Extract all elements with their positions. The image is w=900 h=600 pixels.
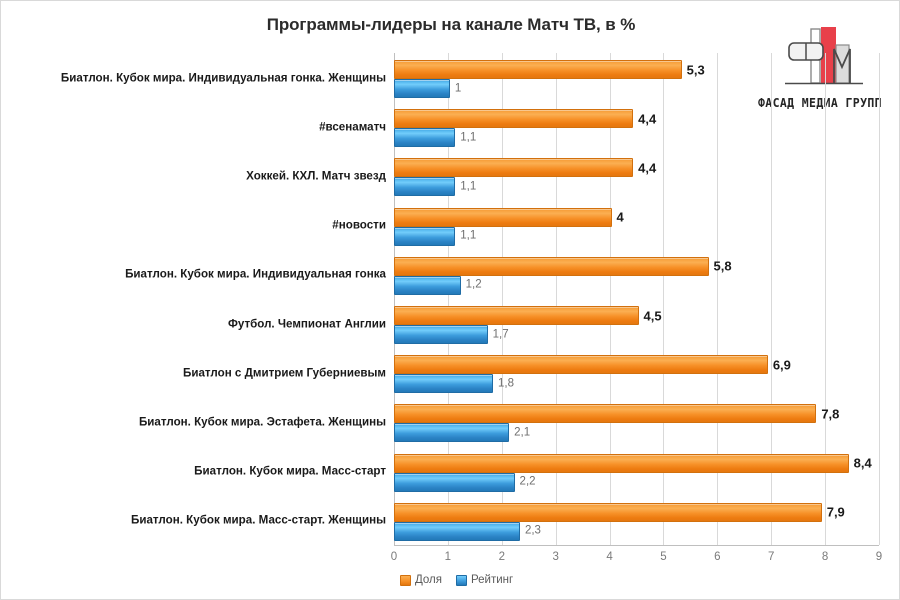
- chart-page: Программы-лидеры на канале Матч ТВ, в % …: [0, 0, 900, 600]
- x-axis-line: [394, 545, 879, 546]
- bar-value-label: 1: [455, 83, 461, 95]
- bar-share: 4,4: [394, 109, 633, 128]
- legend-label: Рейтинг: [471, 574, 513, 586]
- bar-value-label: 4,5: [644, 309, 662, 322]
- bar-value-label: 2,3: [525, 526, 541, 538]
- x-tick-label: 7: [756, 551, 786, 563]
- bar-value-label: 5,3: [687, 63, 705, 76]
- page-title: Программы-лидеры на канале Матч ТВ, в %: [151, 15, 751, 35]
- chart-legend: ДоляРейтинг: [400, 574, 513, 586]
- bar-value-label: 4,4: [638, 112, 656, 125]
- bar-share: 7,9: [394, 503, 822, 522]
- category-label: Биатлон. Кубок мира. Индивидуальная гонк…: [6, 71, 386, 84]
- bar-value-label: 1,1: [460, 181, 476, 193]
- legend-item[interactable]: Доля: [400, 574, 442, 586]
- bar-share: 6,9: [394, 355, 768, 374]
- legend-swatch-icon: [400, 575, 411, 586]
- x-tick-label: 8: [810, 551, 840, 563]
- bar-share: 5,8: [394, 257, 709, 276]
- bar-value-label: 2,1: [514, 427, 530, 439]
- bar-value-label: 4,4: [638, 161, 656, 174]
- bar-rating: 2,1: [394, 423, 509, 442]
- x-tick-label: 5: [648, 551, 678, 563]
- category-label: #новости: [6, 219, 386, 232]
- bar-value-label: 1,2: [466, 280, 482, 292]
- bar-value-label: 4: [617, 211, 624, 224]
- bar-rating: 2,2: [394, 473, 515, 492]
- category-label: Биатлон. Кубок мира. Индивидуальная гонк…: [6, 268, 386, 281]
- bar-value-label: 7,8: [821, 407, 839, 420]
- bar-value-label: 8,4: [854, 457, 872, 470]
- bar-value-label: 5,8: [714, 260, 732, 273]
- bar-value-label: 1,7: [493, 329, 509, 341]
- category-label: #всенаматч: [6, 120, 386, 133]
- x-tick-label: 4: [595, 551, 625, 563]
- bar-row: Биатлон. Кубок мира. Масс-старт. Женщины…: [394, 496, 879, 545]
- bar-rating: 1,2: [394, 276, 461, 295]
- bar-value-label: 2,2: [520, 476, 536, 488]
- bar-rating: 1,1: [394, 128, 455, 147]
- x-tick-label: 6: [702, 551, 732, 563]
- category-label: Биатлон. Кубок мира. Масс-старт. Женщины: [6, 514, 386, 527]
- bar-row: #всенаматч4,41,1: [394, 102, 879, 151]
- bar-rating: 1,7: [394, 325, 488, 344]
- bar-share: 8,4: [394, 454, 849, 473]
- bar-rating: 1: [394, 79, 450, 98]
- bar-value-label: 1,8: [498, 378, 514, 390]
- legend-item[interactable]: Рейтинг: [456, 574, 513, 586]
- bar-rating: 1,1: [394, 177, 455, 196]
- bar-row: Биатлон с Дмитрием Губерниевым6,91,8: [394, 348, 879, 397]
- bar-rating: 1,1: [394, 227, 455, 246]
- bar-value-label: 6,9: [773, 358, 791, 371]
- bar-value-label: 7,9: [827, 506, 845, 519]
- x-tick-label: 0: [379, 551, 409, 563]
- bar-share: 5,3: [394, 60, 682, 79]
- legend-swatch-icon: [456, 575, 467, 586]
- bar-rating: 2,3: [394, 522, 520, 541]
- x-tick-label: 1: [433, 551, 463, 563]
- legend-label: Доля: [415, 574, 442, 586]
- x-tick-label: 9: [864, 551, 894, 563]
- category-label: Биатлон. Кубок мира. Масс-старт: [6, 465, 386, 478]
- plot-area: Биатлон. Кубок мира. Индивидуальная гонк…: [394, 53, 879, 545]
- gridline-9: [879, 53, 880, 545]
- bar-share: 4,4: [394, 158, 633, 177]
- bar-row: #новости41,1: [394, 201, 879, 250]
- bar-row: Биатлон. Кубок мира. Индивидуальная гонк…: [394, 53, 879, 102]
- bar-share: 7,8: [394, 404, 816, 423]
- bar-value-label: 1,1: [460, 230, 476, 242]
- x-tick-label: 3: [541, 551, 571, 563]
- category-label: Биатлон. Кубок мира. Эстафета. Женщины: [6, 415, 386, 428]
- bar-row: Футбол. Чемпионат Англии4,51,7: [394, 299, 879, 348]
- category-label: Биатлон с Дмитрием Губерниевым: [6, 366, 386, 379]
- bar-row: Хоккей. КХЛ. Матч звезд4,41,1: [394, 151, 879, 200]
- x-tick-label: 2: [487, 551, 517, 563]
- bar-row: Биатлон. Кубок мира. Масс-старт8,42,2: [394, 447, 879, 496]
- bar-row: Биатлон. Кубок мира. Индивидуальная гонк…: [394, 250, 879, 299]
- bar-row: Биатлон. Кубок мира. Эстафета. Женщины7,…: [394, 397, 879, 446]
- category-label: Футбол. Чемпионат Англии: [6, 317, 386, 330]
- bar-share: 4: [394, 208, 612, 227]
- bar-rating: 1,8: [394, 374, 493, 393]
- category-label: Хоккей. КХЛ. Матч звезд: [6, 169, 386, 182]
- bar-value-label: 1,1: [460, 132, 476, 144]
- bar-share: 4,5: [394, 306, 639, 325]
